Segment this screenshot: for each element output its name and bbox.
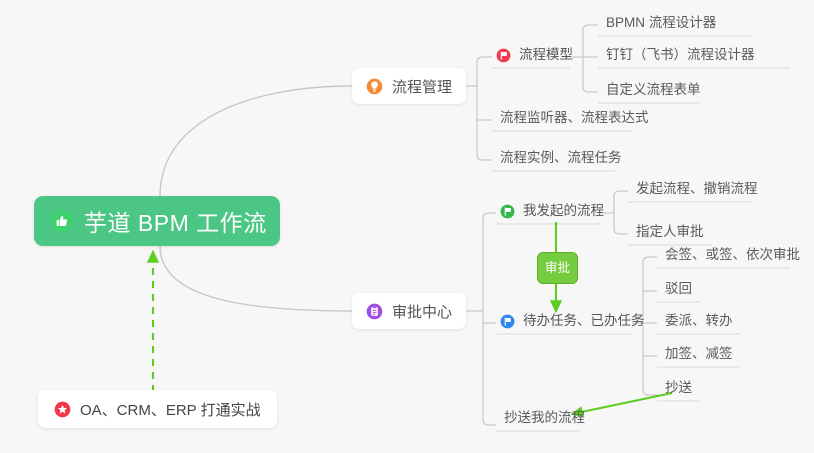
footnote-label: OA、CRM、ERP 打通实战: [80, 399, 261, 420]
mindmap-canvas: 芋道 BPM 工作流 流程管理 审批中心: [0, 0, 814, 453]
flag-icon: [500, 204, 515, 219]
leaf-todo-done-tasks[interactable]: 待办任务、已办任务: [496, 310, 653, 334]
leaf-flow-model[interactable]: 流程模型: [492, 44, 581, 68]
leaf-label: 抄送: [665, 376, 692, 396]
approve-badge[interactable]: 审批: [537, 252, 578, 284]
clipboard-icon: [366, 303, 383, 320]
leaf-label: 钉钉（飞书）流程设计器: [606, 43, 755, 63]
leaf-label: 流程实例、流程任务: [500, 146, 622, 166]
leaf-dingtalk-feishu-designer[interactable]: 钉钉（飞书）流程设计器: [598, 44, 763, 68]
star-icon: [54, 401, 71, 418]
lightbulb-icon: [366, 78, 383, 95]
leaf-label: 自定义流程表单: [606, 78, 701, 98]
leaf-custom-flow-form[interactable]: 自定义流程表单: [598, 79, 709, 103]
leaf-label: 会签、或签、依次审批: [665, 243, 800, 263]
thumbs-up-icon: [50, 209, 74, 233]
leaf-flow-listener-expression[interactable]: 流程监听器、流程表达式: [492, 107, 657, 131]
leaf-flow-instance-task[interactable]: 流程实例、流程任务: [492, 147, 630, 171]
leaf-cc[interactable]: 抄送: [657, 377, 700, 401]
leaf-reject[interactable]: 驳回: [657, 278, 700, 302]
leaf-label: 流程模型: [519, 43, 573, 63]
branch-node-approval-center[interactable]: 审批中心: [352, 293, 466, 329]
branch-label-flow-management: 流程管理: [392, 76, 452, 97]
footnote-node-integration-practice[interactable]: OA、CRM、ERP 打通实战: [38, 390, 277, 428]
leaf-delegate-transfer[interactable]: 委派、转办: [657, 310, 741, 334]
leaf-start-cancel-flow[interactable]: 发起流程、撤销流程: [628, 178, 766, 202]
leaf-bpmn-designer[interactable]: BPMN 流程设计器: [598, 12, 724, 36]
leaf-assignee-approval[interactable]: 指定人审批: [628, 221, 712, 245]
leaf-label: 待办任务、已办任务: [523, 309, 645, 329]
leaf-label: 流程监听器、流程表达式: [500, 106, 649, 126]
leaf-add-remove-sign[interactable]: 加签、减签: [657, 343, 741, 367]
branch-label-approval-center: 审批中心: [392, 301, 452, 322]
leaf-countersign-orsign-sequential[interactable]: 会签、或签、依次审批: [657, 244, 808, 268]
leaf-label: 加签、减签: [665, 342, 733, 362]
leaf-my-initiated-flows[interactable]: 我发起的流程: [496, 200, 612, 224]
branch-node-flow-management[interactable]: 流程管理: [352, 68, 466, 104]
leaf-label: BPMN 流程设计器: [606, 11, 716, 31]
leaf-flows-cc-to-me[interactable]: 抄送我的流程: [496, 407, 593, 431]
root-label: 芋道 BPM 工作流: [84, 204, 267, 238]
leaf-label: 驳回: [665, 277, 692, 297]
leaf-label: 发起流程、撤销流程: [636, 177, 758, 197]
leaf-label: 我发起的流程: [523, 199, 604, 219]
leaf-label: 指定人审批: [636, 220, 704, 240]
approve-badge-label: 审批: [545, 262, 570, 275]
leaf-label: 委派、转办: [665, 309, 733, 329]
flag-icon: [500, 314, 515, 329]
flag-icon: [496, 48, 511, 63]
root-node[interactable]: 芋道 BPM 工作流: [34, 196, 280, 246]
leaf-label: 抄送我的流程: [504, 406, 585, 426]
